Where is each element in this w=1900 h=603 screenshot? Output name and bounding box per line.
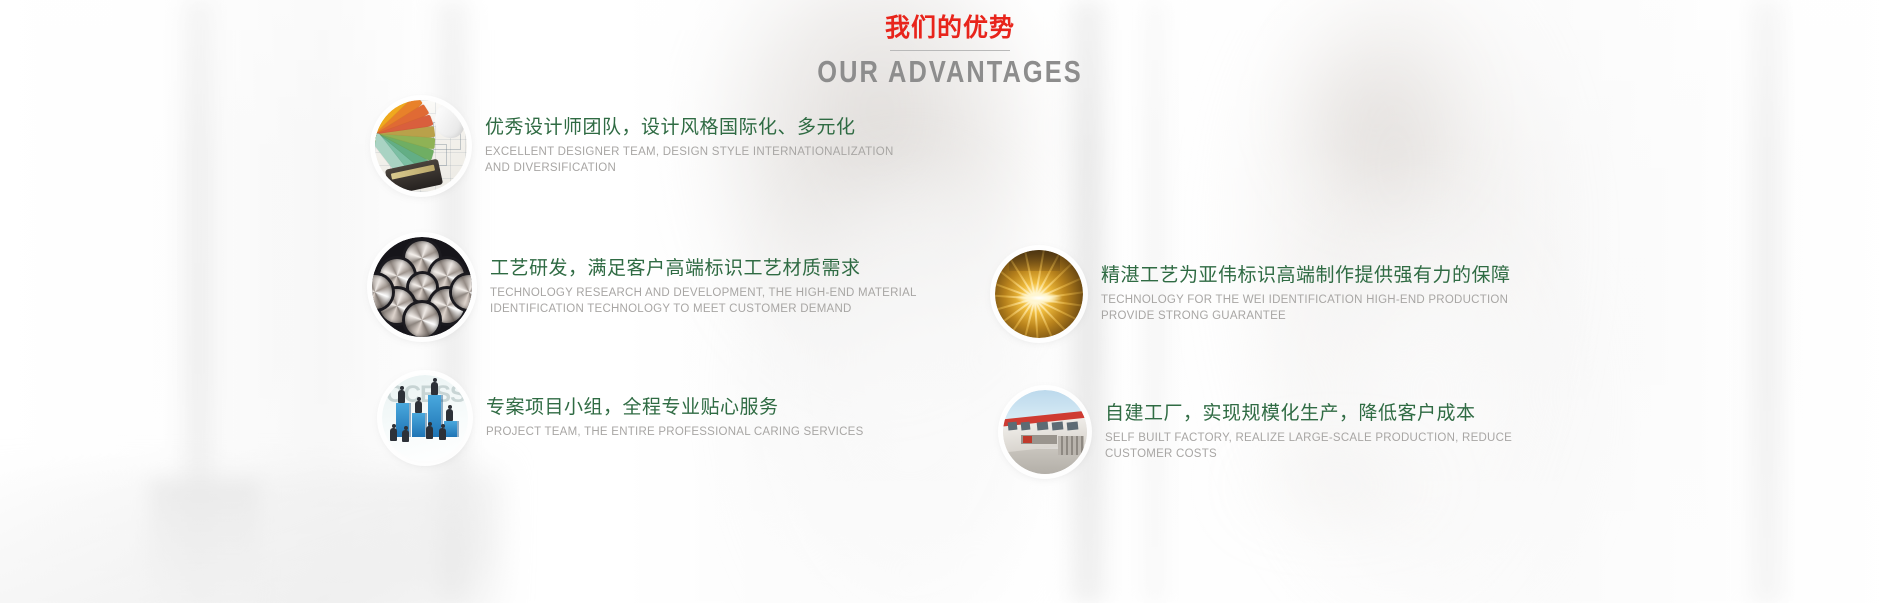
advantage-title: 工艺研发，满足客户高端标识工艺材质需求	[490, 256, 920, 282]
factory-building-icon	[1003, 390, 1087, 474]
advantage-subtitle: EXCELLENT DESIGNER TEAM, DESIGN STYLE IN…	[485, 145, 915, 177]
advantage-subtitle: TECHNOLOGY FOR THE WEI IDENTIFICATION HI…	[1101, 293, 1531, 325]
advantage-item[interactable]: 自建工厂，实现规模化生产，降低客户成本 SELF BUILT FACTORY, …	[1003, 390, 1535, 474]
advantage-text: 优秀设计师团队，设计风格国际化、多元化 EXCELLENT DESIGNER T…	[485, 115, 915, 177]
advantage-title: 专案项目小组，全程专业贴心服务	[486, 395, 864, 421]
advantage-subtitle: PROJECT TEAM, THE ENTIRE PROFESSIONAL CA…	[486, 425, 864, 441]
color-swatch-fan-icon	[375, 100, 467, 192]
advantage-title: 精湛工艺为亚伟标识高端制作提供强有力的保障	[1101, 263, 1531, 289]
advantage-item[interactable]: OCESS 专案项目小组，全程专业贴心服务 PROJECT	[382, 375, 864, 461]
advantage-title: 优秀设计师团队，设计风格国际化、多元化	[485, 115, 915, 141]
advantage-subtitle: SELF BUILT FACTORY, REALIZE LARGE-SCALE …	[1105, 431, 1535, 463]
advantage-title: 自建工厂，实现规模化生产，降低客户成本	[1105, 401, 1535, 427]
advantage-item[interactable]: 工艺研发，满足客户高端标识工艺材质需求 TECHNOLOGY RESEARCH …	[372, 237, 920, 337]
advantage-subtitle: TECHNOLOGY RESEARCH AND DEVELOPMENT, THE…	[490, 286, 920, 318]
advantage-item[interactable]: 精湛工艺为亚伟标识高端制作提供强有力的保障 TECHNOLOGY FOR THE…	[995, 250, 1531, 338]
advantage-text: 专案项目小组，全程专业贴心服务 PROJECT TEAM, THE ENTIRE…	[486, 395, 864, 442]
advantages-list: 优秀设计师团队，设计风格国际化、多元化 EXCELLENT DESIGNER T…	[0, 0, 1900, 603]
metal-pipes-icon	[372, 237, 472, 337]
advantage-item[interactable]: 优秀设计师团队，设计风格国际化、多元化 EXCELLENT DESIGNER T…	[375, 100, 915, 192]
business-chart-team-icon: OCESS	[382, 375, 468, 461]
advantages-section: 我们的优势 OUR ADVANTAGES	[0, 0, 1900, 603]
advantage-text: 精湛工艺为亚伟标识高端制作提供强有力的保障 TECHNOLOGY FOR THE…	[1101, 263, 1531, 325]
advantage-text: 工艺研发，满足客户高端标识工艺材质需求 TECHNOLOGY RESEARCH …	[490, 256, 920, 318]
advantage-text: 自建工厂，实现规模化生产，降低客户成本 SELF BUILT FACTORY, …	[1105, 401, 1535, 463]
welding-sparks-icon	[995, 250, 1083, 338]
